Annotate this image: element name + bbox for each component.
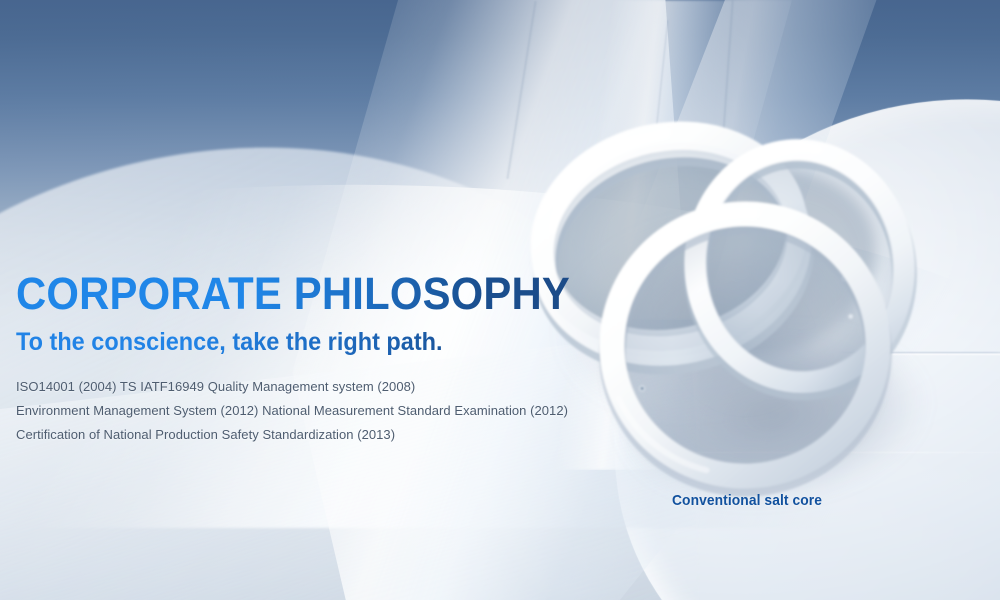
headline-text-block: CORPORATE PHILOSOPHY To the conscience, … (16, 268, 636, 447)
certification-line: ISO14001 (2004) TS IATF16949 Quality Man… (16, 375, 636, 399)
corporate-philosophy-banner: CORPORATE PHILOSOPHY To the conscience, … (0, 0, 1000, 600)
page-title: CORPORATE PHILOSOPHY (16, 268, 593, 320)
certification-line: Environment Management System (2012) Nat… (16, 399, 636, 423)
product-caption: Conventional salt core (672, 492, 822, 509)
certification-line: Certification of National Production Saf… (16, 423, 636, 447)
page-subtitle: To the conscience, take the right path. (16, 326, 599, 358)
certification-list: ISO14001 (2004) TS IATF16949 Quality Man… (16, 375, 636, 447)
